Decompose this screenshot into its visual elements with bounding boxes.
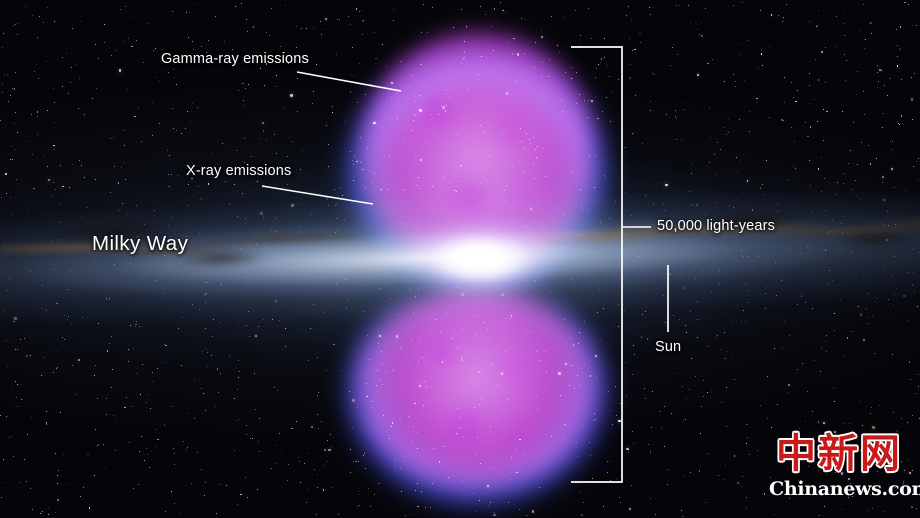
watermark-english-text: Chinanews.com — [769, 478, 909, 500]
watermark-chinese-text: 中新网 — [769, 432, 909, 476]
astronomy-illustration: Gamma-ray emissions X-ray emissions Milk… — [0, 0, 920, 518]
label-xray-emissions: X-ray emissions — [186, 163, 291, 179]
galactic-center-nucleus — [446, 244, 510, 272]
label-gamma-ray-emissions: Gamma-ray emissions — [161, 51, 309, 67]
label-milky-way: Milky Way — [92, 232, 188, 256]
label-sun: Sun — [655, 339, 681, 355]
watermark: 中新网 Chinanews.com — [769, 432, 909, 504]
label-distance-scale: 50,000 light-years — [657, 218, 775, 234]
gamma-texture-south — [378, 308, 578, 478]
